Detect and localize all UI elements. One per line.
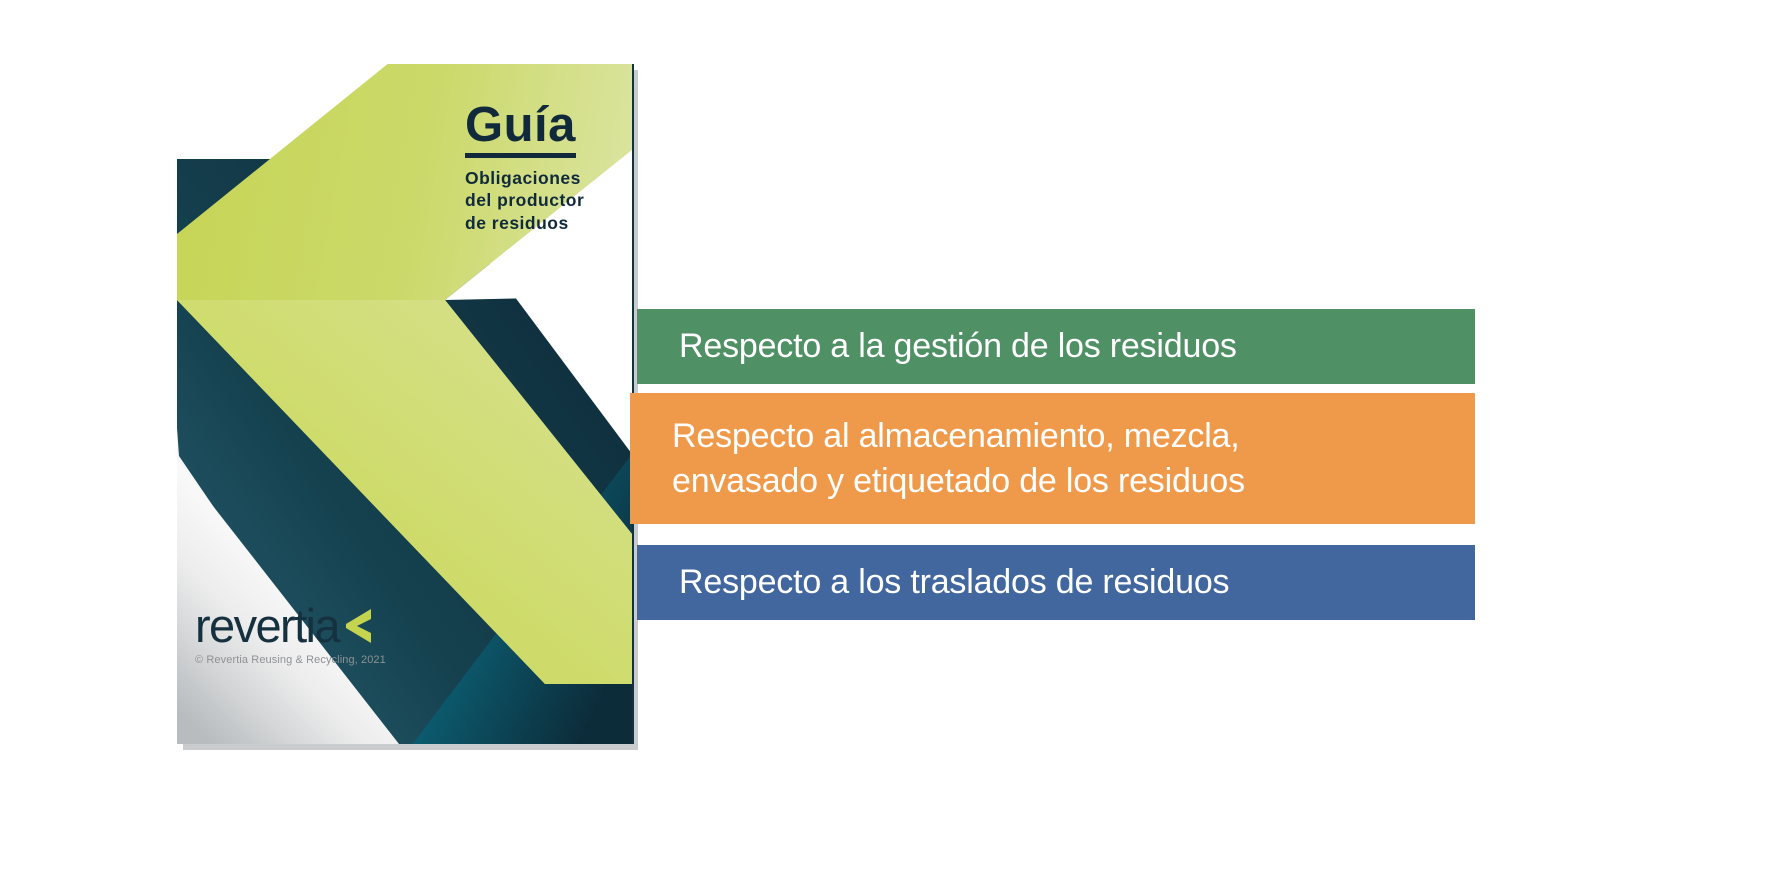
section-bar-gestion[interactable]: Respecto a la gestión de los residuos bbox=[637, 309, 1475, 384]
logo-row: revertia bbox=[195, 602, 455, 649]
cover-page: Guía Obligaciones del productor de resid… bbox=[177, 64, 634, 744]
copyright-notice: © Revertia Reusing & Recycling, 2021 bbox=[195, 654, 455, 666]
logo-wordmark: revertia bbox=[195, 602, 339, 649]
section-bar-label: Respecto a los traslados de residuos bbox=[679, 560, 1229, 604]
section-bar-label: Respecto a la gestión de los residuos bbox=[679, 324, 1237, 368]
cover-title-block: Guía Obligaciones del productor de resid… bbox=[465, 101, 615, 234]
section-bar-almacenamiento[interactable]: Respecto al almacenamiento, mezcla, enva… bbox=[630, 393, 1475, 524]
brand-logo: revertia © Revertia Reusing & Recycling,… bbox=[195, 602, 455, 666]
document-cover: Guía Obligaciones del productor de resid… bbox=[177, 64, 632, 744]
section-bar-traslados[interactable]: Respecto a los traslados de residuos bbox=[637, 545, 1475, 620]
page-title: Guía bbox=[465, 101, 576, 158]
logo-chevron-icon bbox=[345, 609, 372, 643]
section-bar-label: Respecto al almacenamiento, mezcla, enva… bbox=[672, 414, 1245, 502]
cover-subtitle: Obligaciones del productor de residuos bbox=[465, 167, 615, 234]
